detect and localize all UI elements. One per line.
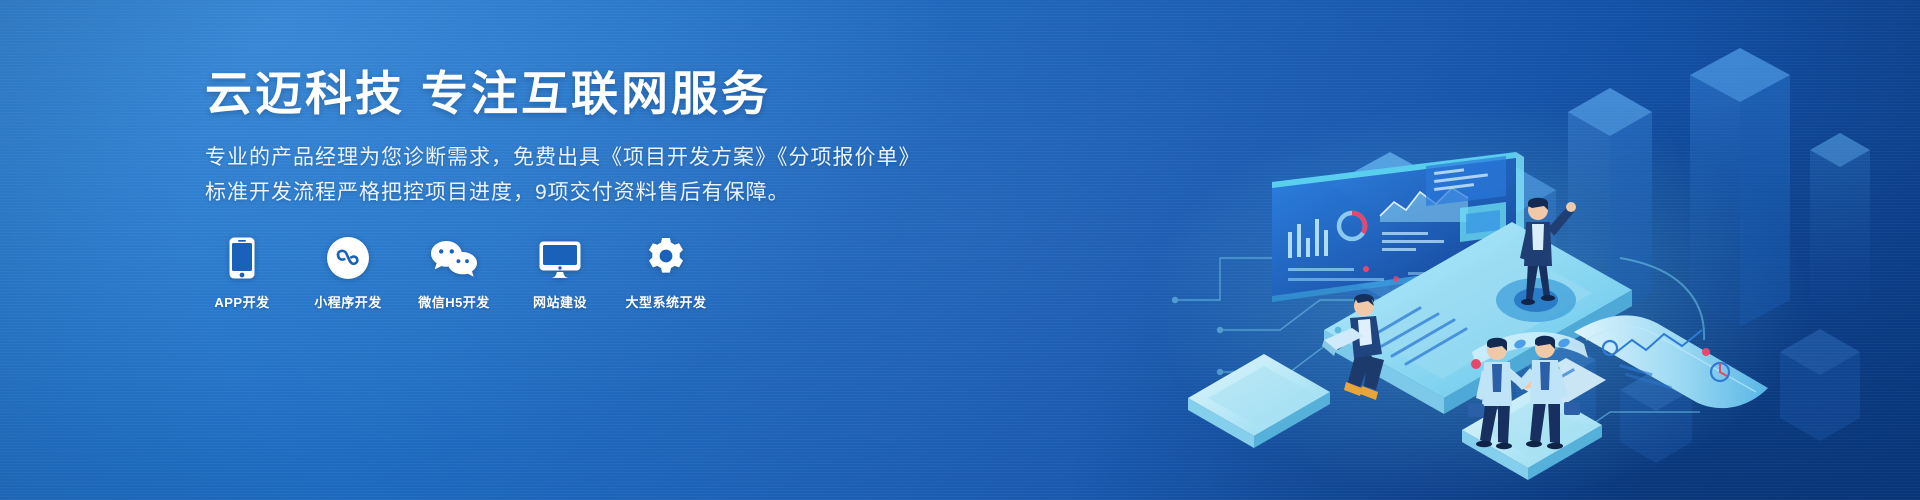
service-label-app: APP开发: [214, 292, 269, 311]
service-label-miniprogram: 小程序开发: [314, 292, 382, 311]
service-label-system: 大型系统开发: [626, 292, 707, 311]
promo-banner: 云迈科技 专注互联网服务 专业的产品经理为您诊断需求，免费出具《项目开发方案》《…: [0, 0, 1920, 500]
wechat-icon: [430, 235, 478, 279]
service-item-wechat[interactable]: 微信H5开发: [417, 235, 491, 311]
building-slim-far: [1810, 133, 1870, 317]
banner-subtitle: 专业的产品经理为您诊断需求，免费出具《项目开发方案》《分项报价单》 标准开发流程…: [205, 143, 905, 209]
banner-title: 云迈科技 专注互联网服务: [205, 68, 905, 121]
banner-content: 云迈科技 专注互联网服务 专业的产品经理为您诊断需求，免费出具《项目开发方案》《…: [205, 68, 905, 311]
service-list: APP开发 小程序开发: [205, 235, 905, 311]
service-item-website[interactable]: 网站建设: [523, 235, 597, 311]
mobile-phone-icon: [229, 235, 255, 279]
subtitle-line-1: 专业的产品经理为您诊断需求，免费出具《项目开发方案》《分项报价单》: [205, 143, 905, 173]
service-item-miniprogram[interactable]: 小程序开发: [311, 235, 385, 311]
gear-icon: [645, 235, 687, 279]
presenter-pad: [1496, 278, 1576, 322]
mini-program-icon: [327, 235, 369, 279]
service-label-wechat: 微信H5开发: [418, 292, 490, 311]
hero-illustration: [920, 0, 1920, 500]
building-tall-right: [1690, 0, 1790, 327]
service-label-website: 网站建设: [533, 292, 587, 311]
service-item-system[interactable]: 大型系统开发: [629, 235, 703, 311]
subtitle-line-2: 标准开发流程严格把控项目进度，9项交付资料售后有保障。: [205, 178, 905, 208]
service-item-app[interactable]: APP开发: [205, 235, 279, 311]
monitor-icon: [539, 235, 581, 279]
